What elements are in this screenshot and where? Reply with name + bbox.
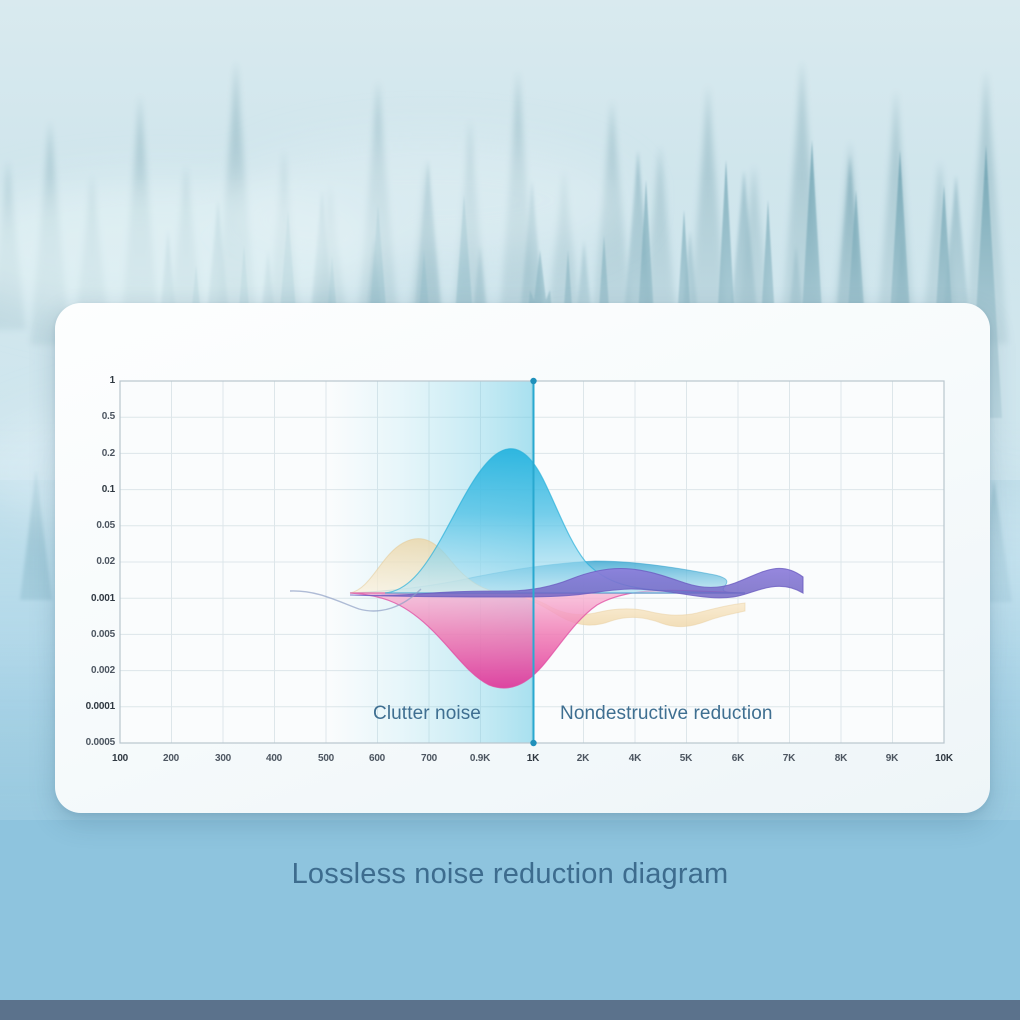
x-tick-11: 5K <box>666 753 706 764</box>
x-tick-4: 500 <box>306 753 346 764</box>
x-tick-15: 9K <box>872 753 912 764</box>
y-tick-7: 0.005 <box>63 629 115 640</box>
page-caption: Lossless noise reduction diagram <box>0 858 1020 891</box>
y-tick-9: 0.0001 <box>59 701 115 712</box>
y-tick-8: 0.002 <box>63 665 115 676</box>
x-tick-8: 1K <box>513 753 553 764</box>
x-tick-12: 6K <box>718 753 758 764</box>
divider-top-marker <box>530 378 536 384</box>
y-tick-6: 0.001 <box>63 593 115 604</box>
y-tick-0: 1 <box>63 375 115 386</box>
divider-bottom-marker <box>530 740 536 746</box>
noise-reduction-chart <box>55 303 990 813</box>
y-tick-3: 0.1 <box>63 484 115 495</box>
x-tick-5: 600 <box>357 753 397 764</box>
x-tick-14: 8K <box>821 753 861 764</box>
y-tick-10: 0.0005 <box>57 737 115 748</box>
x-tick-16: 10K <box>922 753 966 764</box>
x-tick-10: 4K <box>615 753 655 764</box>
x-tick-13: 7K <box>769 753 809 764</box>
plot-area: 1 0.5 0.2 0.1 0.05 0.02 0.001 0.005 0.00… <box>55 303 990 813</box>
x-tick-7: 0.9K <box>460 753 500 764</box>
x-tick-6: 700 <box>409 753 449 764</box>
y-tick-1: 0.5 <box>63 411 115 422</box>
x-tick-9: 2K <box>563 753 603 764</box>
x-tick-0: 100 <box>100 753 140 764</box>
y-tick-5: 0.02 <box>63 556 115 567</box>
x-tick-1: 200 <box>151 753 191 764</box>
y-tick-4: 0.05 <box>63 520 115 531</box>
x-tick-3: 400 <box>254 753 294 764</box>
annotation-clutter-noise: Clutter noise <box>373 703 481 725</box>
diagram-card: 1 0.5 0.2 0.1 0.05 0.02 0.001 0.005 0.00… <box>55 303 990 813</box>
bottom-bar <box>0 1000 1020 1020</box>
y-tick-2: 0.2 <box>63 448 115 459</box>
x-tick-2: 300 <box>203 753 243 764</box>
annotation-nondestructive-reduction: Nondestructive reduction <box>560 703 773 725</box>
